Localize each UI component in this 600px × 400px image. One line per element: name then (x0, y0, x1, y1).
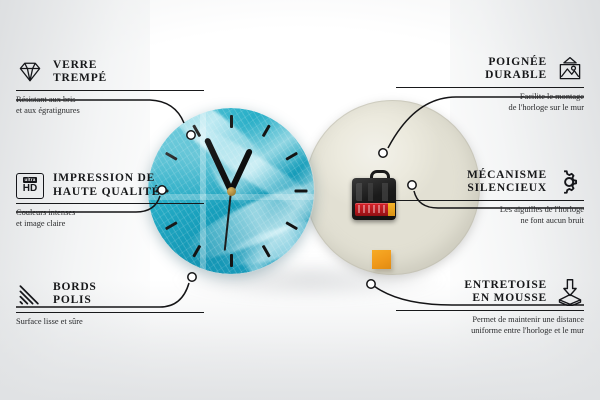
feature-title-line2: POLIS (53, 294, 97, 308)
feature-impression-haute-qualite: ultra HD IMPRESSION DE HAUTE QUALITÉ Cou… (16, 172, 204, 230)
mechanism-detail (356, 183, 392, 201)
feature-title-line1: IMPRESSION DE (53, 172, 160, 186)
battery-label (358, 205, 388, 213)
feature-title-line2: SILENCIEUX (467, 182, 547, 196)
feature-header: ENTRETOISE EN MOUSSE (396, 278, 584, 306)
feature-title: VERRE TREMPÉ (53, 59, 107, 86)
feature-desc-line2: de l'horloge sur le mur (396, 103, 584, 114)
feature-rule (16, 312, 204, 313)
feature-rule (16, 90, 204, 91)
feature-desc-line2: uniforme entre l'horloge et le mur (396, 326, 584, 337)
feature-title: MÉCANISME SILENCIEUX (467, 169, 547, 196)
feature-header: VERRE TREMPÉ (16, 58, 204, 86)
feature-header: MÉCANISME SILENCIEUX (396, 168, 584, 196)
feature-description: Résistant aux bris et aux égratignures (16, 95, 204, 116)
feature-title-line2: TREMPÉ (53, 72, 107, 86)
feature-title: IMPRESSION DE HAUTE QUALITÉ (53, 172, 160, 199)
feature-mecanisme-silencieux: MÉCANISME SILENCIEUX Les aiguilles de l'… (396, 168, 584, 227)
ultra-hd-icon: ultra HD (16, 173, 44, 199)
foam-spacer (372, 250, 391, 269)
feature-title-line1: ENTRETOISE (464, 279, 547, 293)
feature-rule (396, 87, 584, 88)
feature-description: Surface lisse et sûre (16, 317, 204, 328)
feature-title-line1: BORDS (53, 281, 97, 295)
feature-title: ENTRETOISE EN MOUSSE (464, 279, 547, 306)
feature-desc-line1: Facilite le montage (396, 92, 584, 103)
feature-description: Les aiguilles de l'horloge ne font aucun… (396, 205, 584, 226)
feature-desc-line1: Permet de maintenir une distance (396, 315, 584, 326)
feature-desc-line1: Résistant aux bris (16, 95, 204, 106)
feature-rule (396, 200, 584, 201)
feature-desc-line1: Les aiguilles de l'horloge (396, 205, 584, 216)
polished-edge-icon (16, 280, 44, 308)
feature-header: ultra HD IMPRESSION DE HAUTE QUALITÉ (16, 172, 204, 199)
feature-desc-line2: et aux égratignures (16, 106, 204, 117)
feature-title-line1: MÉCANISME (467, 169, 547, 183)
feature-title-line2: HAUTE QUALITÉ (53, 186, 160, 200)
feature-desc-line1: Couleurs intenses (16, 208, 204, 219)
battery-positive-terminal (388, 203, 395, 216)
foam-spacer-arrow-icon (556, 278, 584, 306)
feature-description: Permet de maintenir une distance uniform… (396, 315, 584, 336)
feature-desc-line2: ne font aucun bruit (396, 216, 584, 227)
feature-poignee-durable: POIGNÉE DURABLE Facilite le montage de l… (396, 55, 584, 114)
feature-description: Couleurs intenses et image claire (16, 208, 204, 229)
feature-rule (16, 203, 204, 204)
feature-title-line2: EN MOUSSE (464, 292, 547, 306)
infographic-canvas: VERRE TREMPÉ Résistant aux bris et aux é… (0, 0, 600, 400)
ultra-hd-icon-large-text: HD (23, 184, 37, 194)
diamond-icon (16, 58, 44, 86)
feature-title: POIGNÉE DURABLE (485, 56, 547, 83)
feature-entretoise-en-mousse: ENTRETOISE EN MOUSSE Permet de maintenir… (396, 278, 584, 337)
feature-title-line1: POIGNÉE (485, 56, 547, 70)
feature-title-line2: DURABLE (485, 69, 547, 83)
feature-rule (396, 310, 584, 311)
feature-header: POIGNÉE DURABLE (396, 55, 584, 83)
feature-title: BORDS POLIS (53, 281, 97, 308)
framed-picture-hanger-icon (556, 55, 584, 83)
feature-desc-line2: et image claire (16, 219, 204, 230)
feature-header: BORDS POLIS (16, 280, 204, 308)
gear-icon (556, 168, 584, 196)
feature-description: Facilite le montage de l'horloge sur le … (396, 92, 584, 113)
feature-desc-line1: Surface lisse et sûre (16, 317, 204, 328)
feature-title-line1: VERRE (53, 59, 107, 73)
feature-bords-polis: BORDS POLIS Surface lisse et sûre (16, 280, 204, 328)
feature-verre-trempe: VERRE TREMPÉ Résistant aux bris et aux é… (16, 58, 204, 117)
